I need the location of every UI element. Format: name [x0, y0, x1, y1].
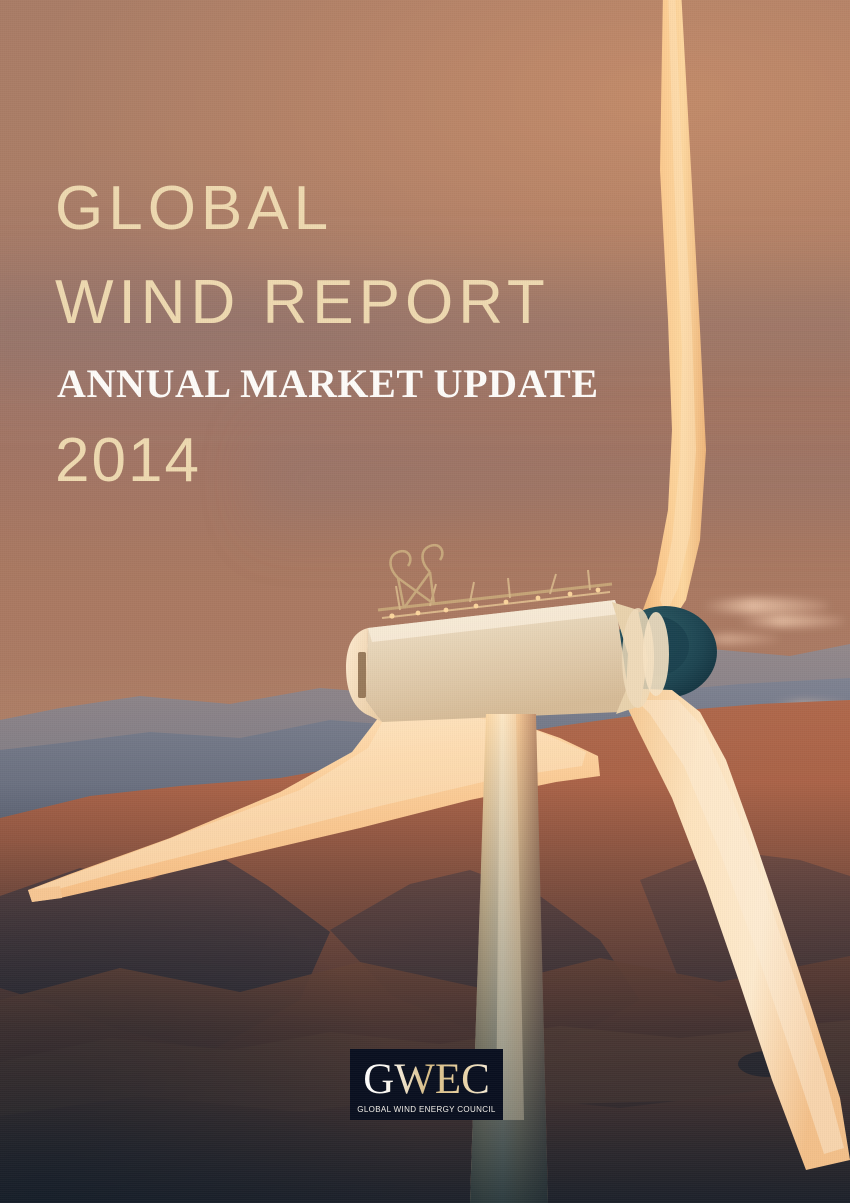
report-cover-page: GLOBAL WIND REPORT ANNUAL MARKET UPDATE … — [0, 0, 850, 1203]
cover-subtitle: ANNUAL MARKET UPDATE — [57, 360, 755, 407]
cover-title-block: GLOBAL WIND REPORT ANNUAL MARKET UPDATE … — [55, 178, 755, 496]
cover-year: 2014 — [55, 425, 755, 496]
nacelle-vent — [358, 652, 366, 698]
gwec-logo: GWEC GLOBAL WIND ENERGY COUNCIL — [350, 1049, 503, 1120]
title-line-1: GLOBAL — [55, 178, 755, 240]
title-line-2: WIND REPORT — [55, 272, 755, 334]
gwec-logo-mark: GWEC — [363, 1058, 490, 1101]
gwec-logo-tagline: GLOBAL WIND ENERGY COUNCIL — [357, 1105, 495, 1114]
